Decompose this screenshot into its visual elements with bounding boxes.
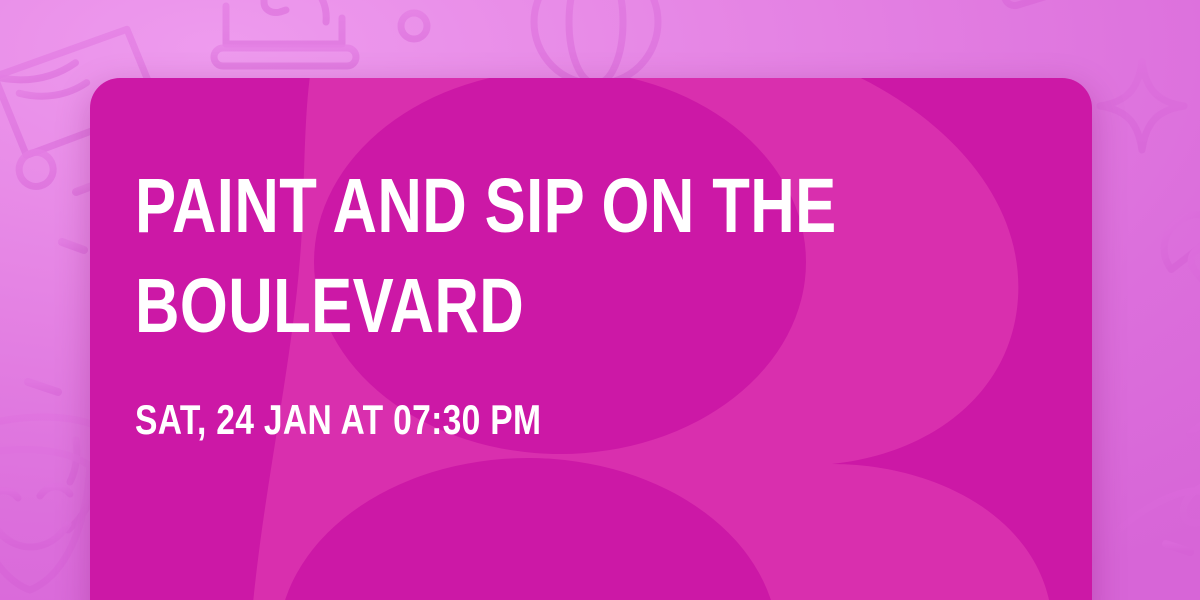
event-banner: Paint and Sip on the Boulevard Sat, 24 J… bbox=[0, 0, 1200, 600]
dj-mixer-icon bbox=[990, 0, 1151, 8]
microphone-icon bbox=[1150, 201, 1200, 341]
circle-outline-icon bbox=[401, 13, 427, 39]
event-card[interactable]: Paint and Sip on the Boulevard Sat, 24 J… bbox=[90, 78, 1092, 600]
event-card-content: Paint and Sip on the Boulevard Sat, 24 J… bbox=[135, 156, 1052, 442]
globe-icon bbox=[534, 0, 658, 84]
event-date: Sat, 24 Jan at 07:30 PM bbox=[135, 356, 869, 442]
event-title: Paint and Sip on the Boulevard bbox=[135, 156, 1055, 356]
sparkle-icon bbox=[1100, 62, 1184, 150]
stage-podium-icon bbox=[214, 0, 356, 66]
